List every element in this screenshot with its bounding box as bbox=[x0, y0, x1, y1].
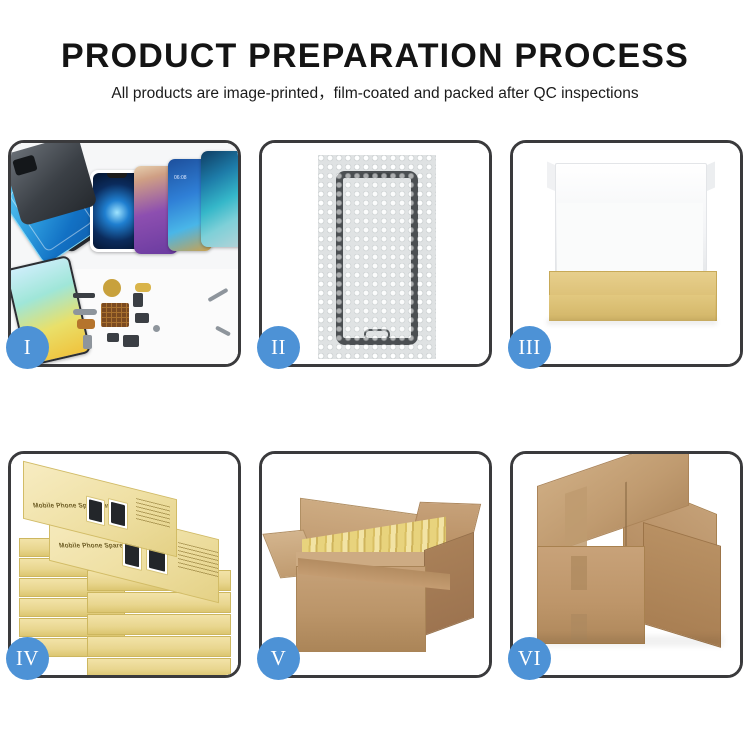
process-step-panel-1[interactable]: 06:08 I bbox=[8, 140, 241, 367]
component-small-chip bbox=[133, 293, 143, 307]
component-flex-strip bbox=[73, 293, 95, 298]
process-step-panel-6[interactable]: VI bbox=[510, 451, 743, 678]
carton-tape-front-upper bbox=[571, 556, 587, 590]
box-spec-lines bbox=[178, 542, 218, 578]
stacked-box-edge bbox=[87, 658, 231, 675]
page-title: PRODUCT PREPARATION PROCESS bbox=[0, 0, 750, 76]
component-copper-flex bbox=[77, 319, 95, 329]
box-stack-scene: Mobile Phone Spare Parts Mobile Phone Sp… bbox=[11, 454, 238, 675]
step-6-image bbox=[513, 454, 740, 675]
step-3-image bbox=[513, 143, 740, 364]
bubble-wrap-scene bbox=[262, 143, 489, 364]
step-badge-1: I bbox=[6, 326, 49, 369]
step-badge-5: V bbox=[257, 637, 300, 680]
box-product-image bbox=[108, 498, 128, 530]
bubble-wrap-sheet bbox=[318, 155, 436, 359]
open-carton-scene bbox=[262, 454, 489, 675]
process-step-panel-5[interactable]: V bbox=[259, 451, 492, 678]
step-2-image bbox=[262, 143, 489, 364]
page-subtitle: All products are image-printed，film-coat… bbox=[0, 76, 750, 104]
stacked-box-edge bbox=[87, 636, 231, 657]
component-battery-cell bbox=[83, 335, 92, 349]
step-badge-2: II bbox=[257, 326, 300, 369]
phone-parts-scene: 06:08 bbox=[11, 143, 238, 364]
component-tweezers bbox=[207, 288, 228, 302]
page-header: PRODUCT PREPARATION PROCESS All products… bbox=[0, 0, 750, 104]
box-kraft-tray-front bbox=[549, 295, 715, 321]
step-4-image: Mobile Phone Spare Parts Mobile Phone Sp… bbox=[11, 454, 238, 675]
screen-notch bbox=[107, 173, 127, 178]
wrapped-phone-screen bbox=[336, 171, 418, 345]
step-badge-6: VI bbox=[508, 637, 551, 680]
step-badge-4: IV bbox=[6, 637, 49, 680]
process-step-panel-4[interactable]: Mobile Phone Spare Parts Mobile Phone Sp… bbox=[8, 451, 241, 678]
box-shadow bbox=[547, 319, 717, 325]
process-step-panel-3[interactable]: III bbox=[510, 140, 743, 367]
component-gold-connector bbox=[135, 283, 151, 292]
stacked-box-edge bbox=[87, 614, 231, 635]
box-foam-insert bbox=[557, 203, 703, 275]
component-camera-module bbox=[107, 333, 119, 342]
carton-front-panel bbox=[537, 546, 645, 644]
component-screw bbox=[153, 325, 160, 332]
step-5-image bbox=[262, 454, 489, 675]
box-product-image bbox=[86, 496, 105, 527]
component-bracket bbox=[73, 309, 97, 315]
component-speaker-coil bbox=[103, 279, 121, 297]
step-1-image: 06:08 bbox=[11, 143, 238, 364]
component-bga-chip bbox=[101, 303, 129, 327]
teal-flagship-phone bbox=[201, 151, 238, 247]
component-vibrator bbox=[123, 335, 139, 347]
component-ic-block bbox=[135, 313, 149, 323]
sealed-carton-scene bbox=[513, 454, 740, 675]
carton-shadow bbox=[533, 636, 723, 646]
box-spec-lines bbox=[136, 498, 170, 528]
process-step-panel-2[interactable]: II bbox=[259, 140, 492, 367]
process-steps-grid: 06:08 I bbox=[8, 140, 742, 678]
open-kraft-box-scene bbox=[513, 143, 740, 364]
phone-clock-label: 06:08 bbox=[174, 175, 187, 181]
component-pry-tool bbox=[215, 325, 231, 336]
step-badge-3: III bbox=[508, 326, 551, 369]
